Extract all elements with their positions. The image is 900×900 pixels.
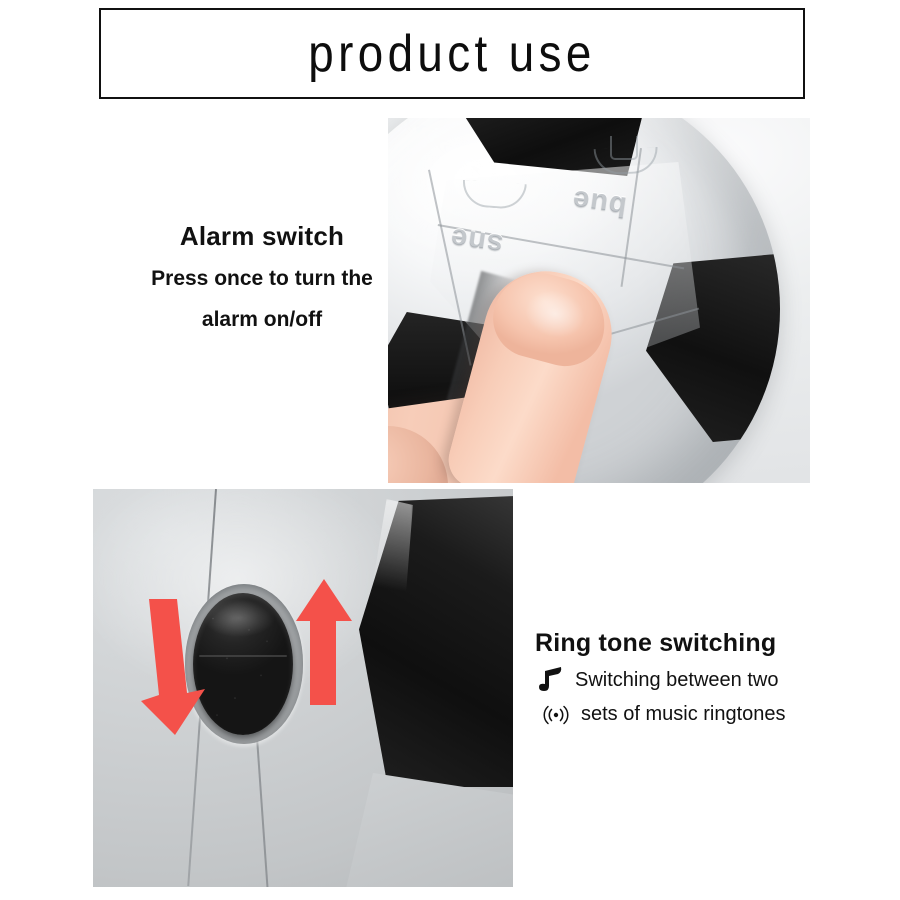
fingernail-highlight — [520, 284, 590, 344]
knob-split-line — [199, 655, 287, 657]
ring-tone-item: Switching between two — [535, 666, 835, 696]
alarm-switch-body: Press once to turn the alarm on/off — [122, 259, 402, 341]
knob-highlight — [203, 599, 275, 637]
music-note-icon — [535, 666, 565, 696]
ring-tone-item-label: Switching between two — [575, 668, 778, 693]
alarm-switch-text-block: Alarm switch Press once to turn the alar… — [122, 222, 402, 340]
sound-wave-icon — [541, 700, 571, 730]
ring-tone-item-label: sets of music ringtones — [581, 702, 786, 727]
slide-down-arrow — [135, 597, 209, 737]
ring-tone-heading: Ring tone switching — [535, 630, 835, 658]
embossed-bracket — [610, 136, 638, 160]
soccer-ball-body: sne bue — [388, 118, 780, 483]
slide-up-arrow — [294, 577, 356, 707]
ring-tone-text-block: Ring tone switching Switching between tw… — [535, 630, 835, 730]
alarm-switch-body-line-2: alarm on/off — [122, 300, 402, 341]
ring-tone-item: sets of music ringtones — [535, 700, 835, 730]
alarm-switch-body-line-1: Press once to turn the — [122, 259, 402, 300]
ringtone-slider-switch-photo — [93, 489, 513, 887]
soccer-ball-alarm-clock-photo: sne bue — [388, 118, 810, 483]
alarm-switch-heading: Alarm switch — [122, 222, 402, 251]
page-title-box: product use — [99, 8, 805, 99]
page-title: product use — [143, 10, 761, 97]
